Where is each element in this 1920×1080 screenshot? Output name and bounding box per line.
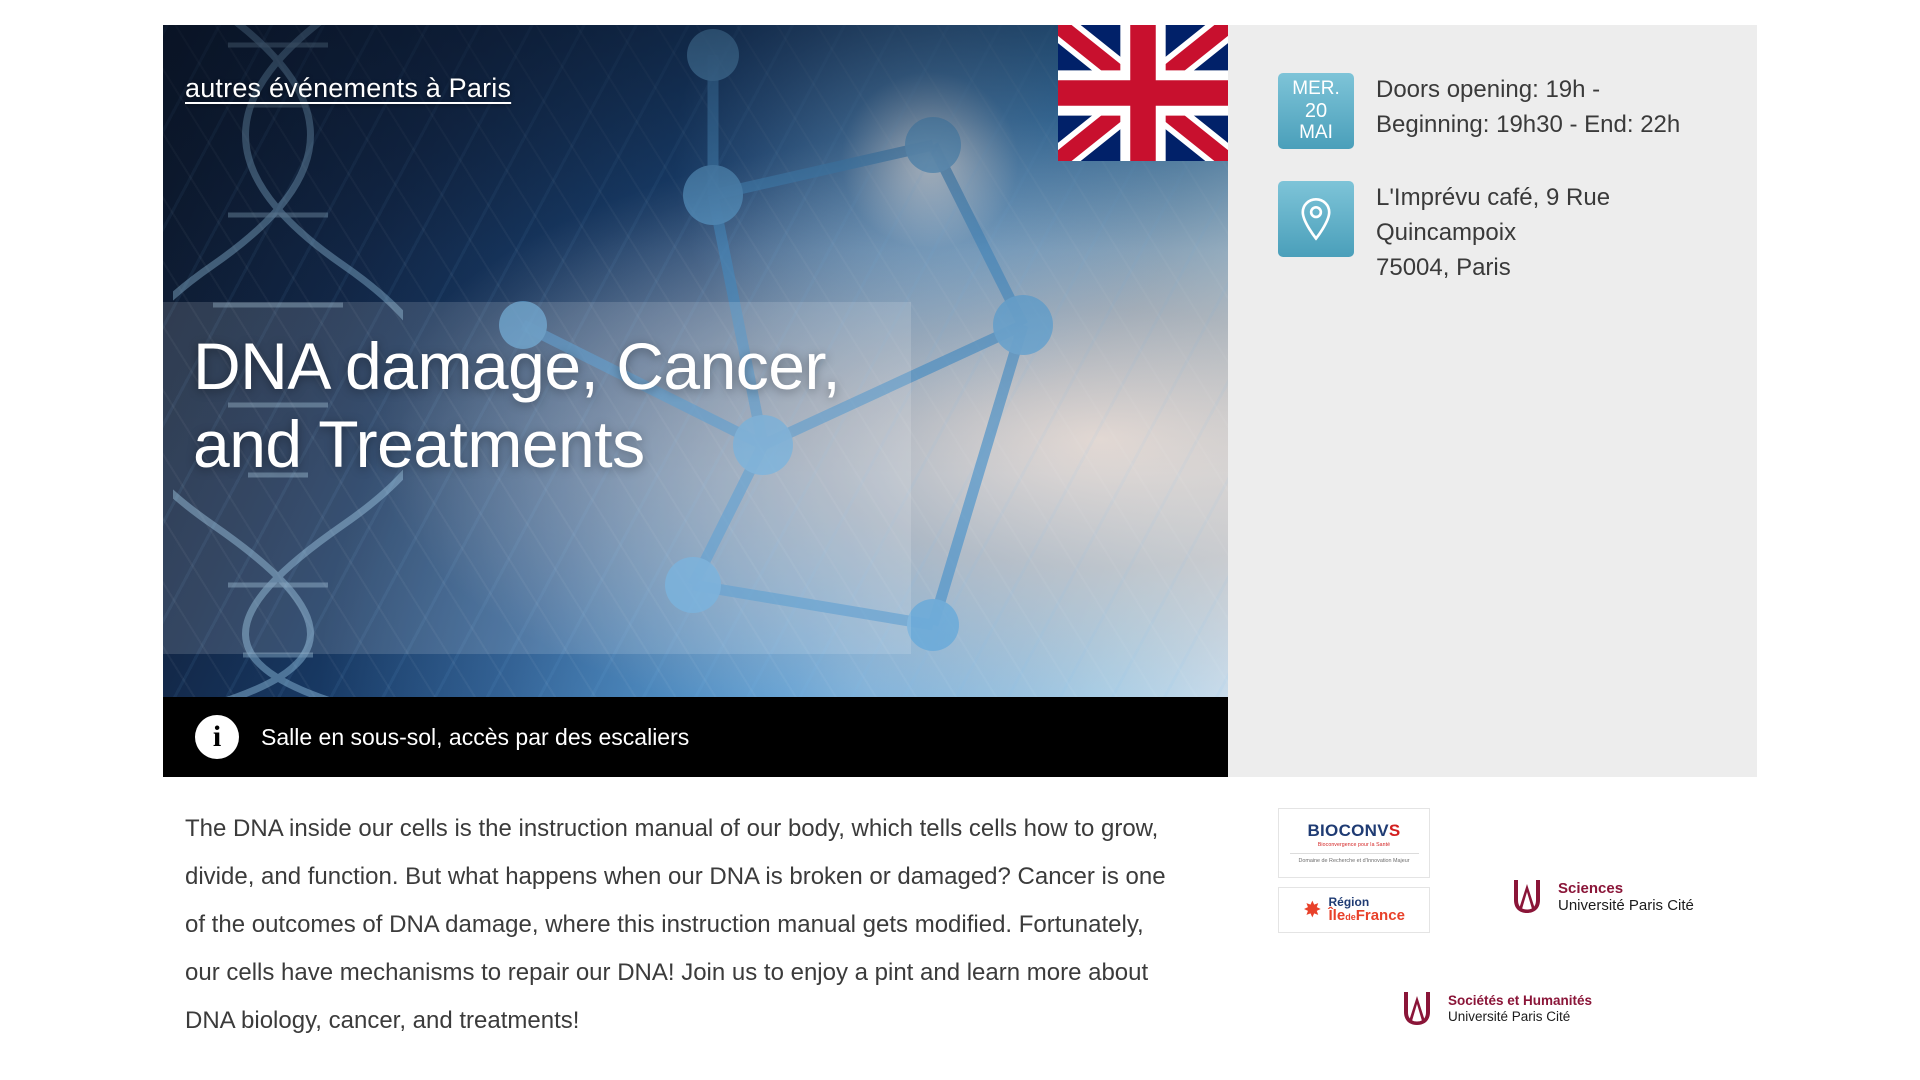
schedule-row: MER. 20 MAI Doors opening: 19h - Beginni… — [1278, 73, 1757, 149]
upc-societes-text: Sociétés et Humanités Université Paris C… — [1448, 993, 1592, 1024]
upc-sciences-line2: Université Paris Cité — [1558, 897, 1694, 914]
date-badge-day: MER. — [1292, 78, 1340, 100]
event-title-box: DNA damage, Cancer, and Treatments — [163, 302, 911, 654]
sponsor-logos: BIOCONVS Bioconvergence pour la Santé Do… — [1270, 800, 1890, 1070]
page-title: DNA damage, Cancer, and Treatments — [193, 328, 881, 484]
region-ile: Île — [1329, 907, 1346, 924]
info-icon: i — [195, 715, 239, 759]
bioconv-conv: CONV — [1339, 821, 1389, 840]
bioconv-s: S — [1389, 821, 1401, 840]
location-row: L'Imprévu café, 9 Rue Quincampoix 75004,… — [1278, 181, 1757, 285]
event-details-panel: MER. 20 MAI Doors opening: 19h - Beginni… — [1228, 25, 1757, 777]
bioconv-bio: BIO — [1307, 821, 1338, 840]
star-icon: ✸ — [1303, 899, 1321, 921]
other-events-link[interactable]: autres événements à Paris — [185, 73, 511, 104]
region-wordmark: Région ÎledeFrance — [1329, 896, 1405, 924]
venue-note-bar: i Salle en sous-sol, accès par des escal… — [163, 697, 1228, 777]
date-badge-number: 20 — [1305, 100, 1327, 123]
upc-sciences-logo: Sciences Université Paris Cité — [1510, 878, 1694, 916]
region-line2: ÎledeFrance — [1329, 908, 1405, 924]
date-badge: MER. 20 MAI — [1278, 73, 1354, 149]
upc-societes-humanites-logo: Sociétés et Humanités Université Paris C… — [1400, 990, 1592, 1028]
upc-societes-line2: Université Paris Cité — [1448, 1009, 1592, 1025]
upc-societes-line1: Sociétés et Humanités — [1448, 993, 1592, 1009]
location-badge — [1278, 181, 1354, 257]
bioconv-wordmark: BIOCONVS — [1307, 822, 1400, 839]
event-page: autres événements à Paris DNA damage, Ca… — [0, 0, 1920, 1080]
map-pin-icon — [1297, 197, 1335, 241]
region-france: France — [1356, 907, 1405, 924]
upc-sciences-text: Sciences Université Paris Cité — [1558, 880, 1694, 915]
region-ile-de-france-logo: ✸ Région ÎledeFrance — [1278, 887, 1430, 933]
upc-sciences-line1: Sciences — [1558, 880, 1694, 897]
region-de: de — [1345, 912, 1356, 922]
universite-paris-cite-icon — [1510, 878, 1546, 916]
schedule-text: Doors opening: 19h - Beginning: 19h30 - … — [1376, 73, 1696, 143]
bioconv-footer: Domaine de Recherche et d'Innovation Maj… — [1290, 853, 1419, 864]
venue-note-text: Salle en sous-sol, accès par des escalie… — [261, 724, 689, 751]
universite-paris-cite-icon — [1400, 990, 1436, 1028]
bioconv-tagline: Bioconvergence pour la Santé — [1318, 842, 1390, 848]
date-badge-month: MAI — [1299, 122, 1333, 144]
hero-banner: autres événements à Paris DNA damage, Ca… — [163, 25, 1228, 777]
united-kingdom-flag-icon — [1058, 25, 1228, 161]
venue-address-text: L'Imprévu café, 9 Rue Quincampoix 75004,… — [1376, 181, 1696, 285]
event-description: The DNA inside our cells is the instruct… — [185, 805, 1175, 1045]
bioconv-logo: BIOCONVS Bioconvergence pour la Santé Do… — [1278, 808, 1430, 878]
